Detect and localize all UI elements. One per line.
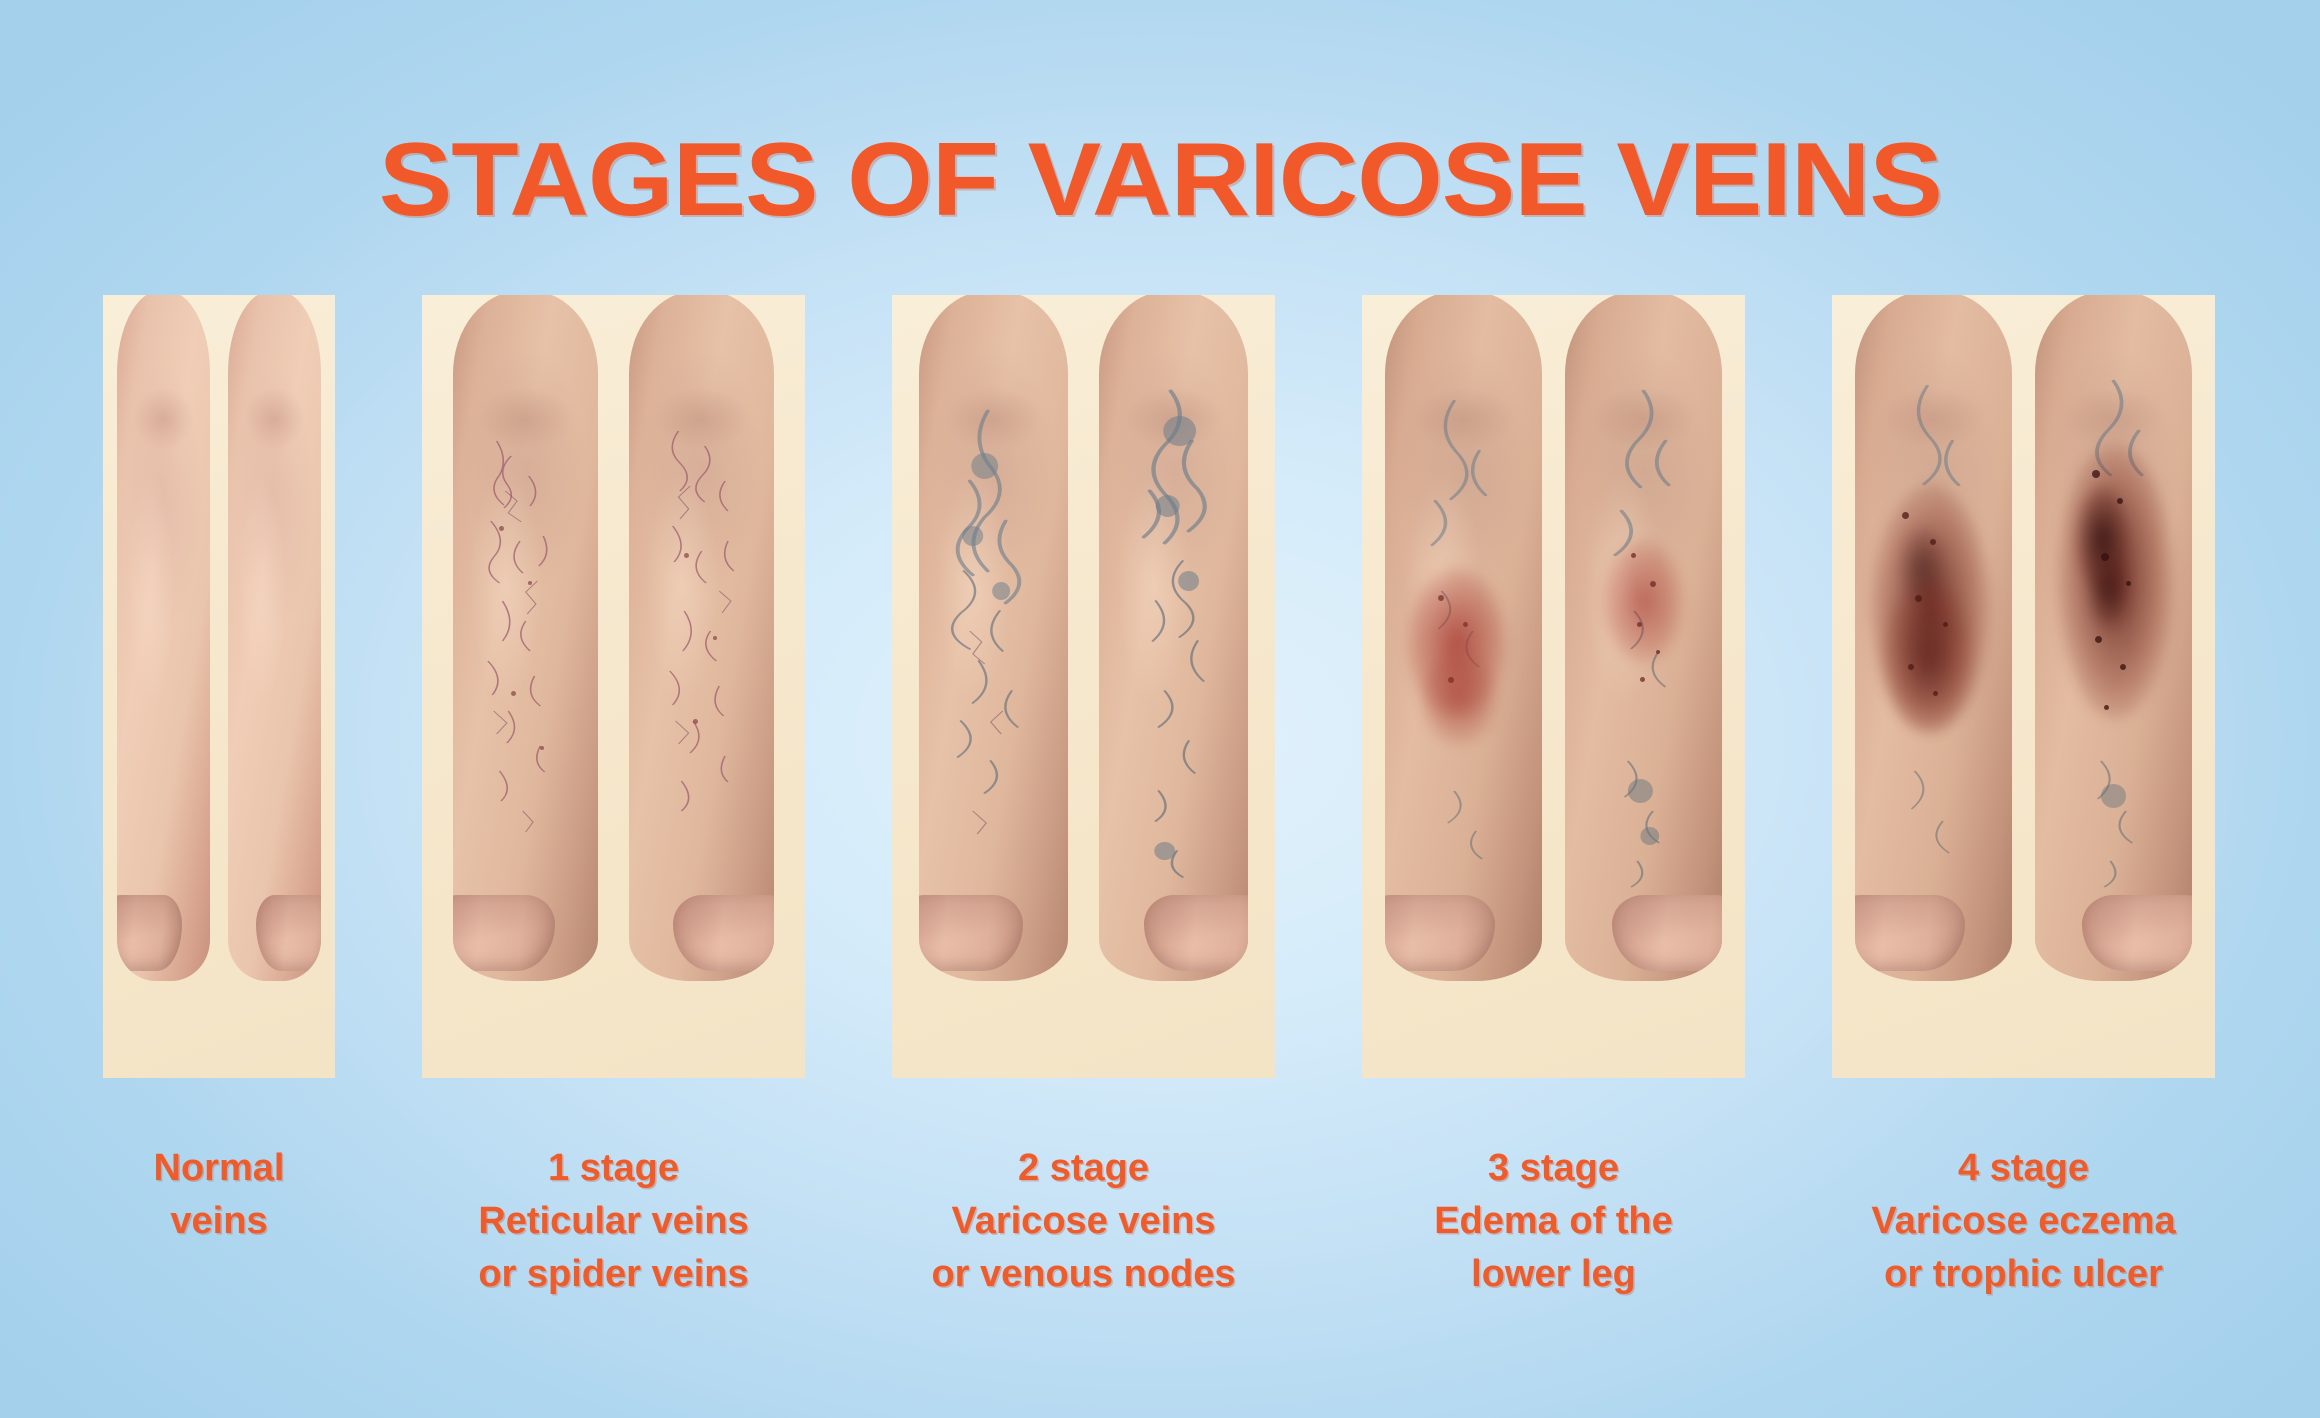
caption-line: Normal: [103, 1142, 335, 1195]
stage-image-stage-3: [1362, 295, 1745, 1078]
caption-stage-2: 2 stage Varicose veins or venous nodes: [892, 1142, 1275, 1301]
caption-line: Edema of the: [1362, 1195, 1745, 1248]
legs-illustration-stage-3: [1362, 295, 1745, 1078]
edema-patch: [1603, 539, 1685, 663]
page-title: STAGES OF VARICOSE VEINS: [378, 128, 1941, 232]
caption-line: 4 stage: [1832, 1142, 2215, 1195]
stage-image-stage-4: [1832, 295, 2215, 1078]
caption-line: lower leg: [1362, 1248, 1745, 1301]
caption-line: or spider veins: [422, 1248, 805, 1301]
caption-line: Reticular veins: [422, 1195, 805, 1248]
varicose-veins-overlay: [1099, 295, 1248, 981]
caption-line: Varicose veins: [892, 1195, 1275, 1248]
eczema-patch: [1899, 526, 1946, 609]
spider-veins-overlay: [629, 295, 775, 981]
legs-illustration-normal: [103, 295, 335, 1078]
stage-image-stage-2: [892, 295, 1275, 1078]
poster-title-container: STAGES OF VARICOSE VEINS: [0, 58, 2320, 301]
caption-normal: Normal veins: [103, 1142, 335, 1301]
caption-line: 1 stage: [422, 1142, 805, 1195]
spider-veins-overlay: [453, 295, 599, 981]
stage-image-normal: [103, 295, 335, 1078]
caption-line: 2 stage: [892, 1142, 1275, 1195]
legs-illustration-stage-2: [892, 295, 1275, 1078]
caption-stage-4: 4 stage Varicose eczema or trophic ulcer: [1832, 1142, 2215, 1301]
legs-illustration-stage-4: [1832, 295, 2215, 1078]
caption-line: or venous nodes: [892, 1248, 1275, 1301]
trophic-ulcer-patch: [2088, 553, 2129, 629]
stage-image-stage-1: [422, 295, 805, 1078]
stage-caption-row: Normal veins 1 stage Reticular veins or …: [103, 1142, 2215, 1301]
caption-line: Varicose eczema: [1832, 1195, 2215, 1248]
legs-illustration-stage-1: [422, 295, 805, 1078]
caption-line: veins: [103, 1195, 335, 1248]
edema-patch: [1420, 650, 1499, 747]
caption-stage-1: 1 stage Reticular veins or spider veins: [422, 1142, 805, 1301]
caption-line: or trophic ulcer: [1832, 1248, 2215, 1301]
caption-line: 3 stage: [1362, 1142, 1745, 1195]
varicose-veins-overlay: [919, 295, 1068, 981]
varicose-veins-poster: STAGES OF VARICOSE VEINS: [0, 0, 2320, 1418]
stage-image-row: [103, 295, 2215, 1078]
caption-stage-3: 3 stage Edema of the lower leg: [1362, 1142, 1745, 1301]
